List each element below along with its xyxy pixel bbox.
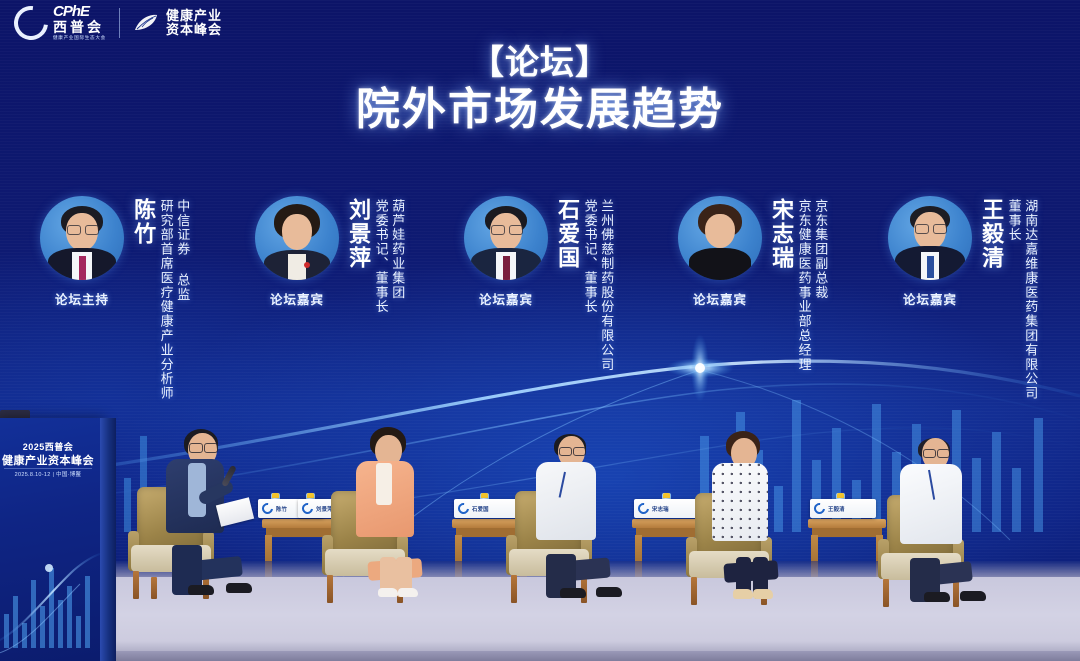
event-logo-bar: CPhE 西普会 健康产业国际生态大会 健康产业 资本峰会 <box>14 4 222 43</box>
panelist-person <box>142 423 262 595</box>
nameplate-logo-icon <box>300 501 315 516</box>
affiliation-line: 党委书记、董事长 <box>373 199 388 314</box>
panelist-role: 论坛嘉宾 <box>460 289 552 308</box>
forum-title-tag: 【论坛】 <box>0 44 1080 82</box>
avatar <box>678 196 762 280</box>
health-summit-logo: 健康产业 资本峰会 <box>133 9 222 37</box>
avatar <box>40 196 124 280</box>
avatar <box>464 196 548 280</box>
panelist-affiliation: 中信证券 总监 研究部首席医疗健康产业分析师 <box>156 199 189 401</box>
panelist-affiliation: 湖南达嘉维康医药集团有限公司 董事长 <box>1004 199 1037 401</box>
panelist-role: 论坛嘉宾 <box>674 289 766 308</box>
rollup-banner: 2025西普会 健康产业资本峰会 2025.8.10-12 | 中国·博鳌 <box>0 418 102 661</box>
affiliation-line: 京东健康医药事业部总经理 <box>796 199 811 372</box>
panelist-role: 论坛嘉宾 <box>884 289 976 308</box>
cphe-logo: CPhE 西普会 健康产业国际生态大会 <box>14 4 106 43</box>
panelist-role: 论坛主持 <box>36 289 128 308</box>
rollup-banner-post <box>100 418 116 661</box>
avatar <box>888 196 972 280</box>
cphe-logo-cn: 西普会 <box>53 20 106 34</box>
panelist-affiliation: 兰州佛慈制药股份有限公司 党委书记、董事长 <box>580 199 613 372</box>
affiliation-line: 董事长 <box>1006 199 1021 401</box>
affiliation-line: 中信证券 总监 <box>175 199 190 401</box>
affiliation-line: 党委书记、董事长 <box>582 199 597 372</box>
cphe-ring-icon <box>7 0 55 47</box>
nameplate-text: 石爱国 <box>472 505 489 513</box>
seat-group <box>120 409 270 599</box>
panelist-person <box>340 421 450 597</box>
panelist-affiliation: 京东集团副总裁 京东健康医药事业部总经理 <box>794 199 827 372</box>
affiliation-line: 湖南达嘉维康医药集团有限公司 <box>1023 199 1038 401</box>
panelist-person <box>520 422 635 598</box>
panelist-affiliation: 葫芦娃药业集团 党委书记、董事长 <box>371 199 404 314</box>
panelist-name: 王毅清 <box>980 198 1003 270</box>
conference-stage-photo: CPhE 西普会 健康产业国际生态大会 健康产业 资本峰会 【论坛】 院外市场发… <box>0 0 1080 661</box>
health-summit-line2: 资本峰会 <box>166 23 222 37</box>
seat-group <box>856 417 1006 607</box>
leaf-icon <box>133 13 159 33</box>
affiliation-line: 研究部首席医疗健康产业分析师 <box>158 199 173 401</box>
rollup-line2: 健康产业资本峰会 <box>0 452 100 468</box>
seat-group <box>318 413 458 603</box>
panelist-role: 论坛嘉宾 <box>251 289 343 308</box>
cphe-logo-sub: 健康产业国际生态大会 <box>53 36 106 41</box>
panelist-card-row: 论坛主持 陈竹 中信证券 总监 研究部首席医疗健康产业分析师 论坛嘉宾 刘景萍 <box>0 190 1080 430</box>
avatar <box>255 196 339 280</box>
affiliation-line: 葫芦娃药业集团 <box>390 199 405 314</box>
panelist-name: 石爱国 <box>556 198 579 270</box>
rollup-line3: 2025.8.10-12 | 中国·博鳌 <box>0 470 100 478</box>
stage-floor-edge <box>0 651 1080 661</box>
panelist-person <box>886 426 1006 602</box>
panelist-name: 刘景萍 <box>347 198 370 270</box>
forum-title-block: 【论坛】 院外市场发展趋势 <box>0 44 1080 136</box>
affiliation-line: 兰州佛慈制药股份有限公司 <box>599 199 614 372</box>
seat-group <box>500 413 640 603</box>
cphe-logo-en: CPhE <box>53 4 106 19</box>
forum-title-main: 院外市场发展趋势 <box>0 84 1080 136</box>
affiliation-line: 京东集团副总裁 <box>813 199 828 372</box>
panelist-person <box>696 423 806 599</box>
panelist-card: 论坛嘉宾 王毅清 湖南达嘉维康医药集团有限公司 董事长 <box>884 190 1037 401</box>
panelist-card: 论坛嘉宾 刘景萍 葫芦娃药业集团 党委书记、董事长 <box>251 190 404 314</box>
panelist-name: 陈竹 <box>132 198 155 246</box>
health-summit-line1: 健康产业 <box>166 9 222 23</box>
panelist-name: 宋志瑞 <box>770 198 793 270</box>
panelist-card: 论坛嘉宾 宋志瑞 京东集团副总裁 京东健康医药事业部总经理 <box>674 190 827 372</box>
nameplate-text: 宋志瑞 <box>652 505 669 513</box>
logo-divider <box>119 8 120 38</box>
seat-group <box>676 415 816 605</box>
panelist-card: 论坛主持 陈竹 中信证券 总监 研究部首席医疗健康产业分析师 <box>36 190 189 401</box>
rollup-divider <box>4 468 92 469</box>
nameplate-text: 陈竹 <box>276 505 287 513</box>
panelist-card: 论坛嘉宾 石爱国 兰州佛慈制药股份有限公司 党委书记、董事长 <box>460 190 613 372</box>
nameplate-text: 王毅清 <box>828 505 845 513</box>
nameplate-logo-icon <box>456 501 471 516</box>
